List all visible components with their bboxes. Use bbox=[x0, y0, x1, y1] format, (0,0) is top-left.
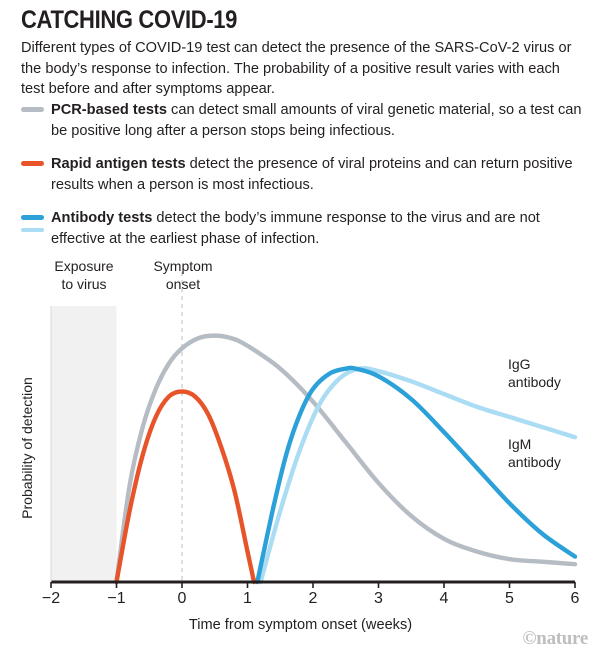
legend: PCR-based tests can detect small amounts… bbox=[21, 100, 587, 262]
legend-item-pcr: PCR-based tests can detect small amounts… bbox=[21, 100, 587, 141]
legend-text-antibody: Antibody tests detect the body’s immune … bbox=[51, 208, 587, 249]
legend-item-antibody: Antibody tests detect the body’s immune … bbox=[21, 208, 587, 249]
legend-label-pcr: PCR-based tests bbox=[51, 102, 167, 118]
legend-item-antigen: Rapid antigen tests detect the presence … bbox=[21, 154, 587, 195]
page-title: CATCHING COVID-19 bbox=[21, 7, 237, 33]
chart-svg bbox=[0, 250, 601, 600]
legend-swatch-antibody bbox=[21, 208, 51, 232]
legend-text-antigen: Rapid antigen tests detect the presence … bbox=[51, 154, 587, 195]
exposure-shaded-region bbox=[51, 306, 117, 582]
chart-area: Exposure to virus Symptom onset IgG anti… bbox=[0, 250, 601, 662]
legend-swatch-pcr bbox=[21, 100, 51, 112]
legend-label-antibody: Antibody tests bbox=[51, 210, 152, 226]
x-axis-label: Time from symptom onset (weeks) bbox=[0, 617, 601, 633]
infographic-page: CATCHING COVID-19 Different types of COV… bbox=[0, 0, 601, 662]
x-tick-label-3: 3 bbox=[359, 590, 399, 608]
curve-rapid-antigen-tests bbox=[117, 392, 255, 583]
x-tick-label-4: 4 bbox=[424, 590, 464, 608]
y-axis-label: Probability of detection bbox=[19, 353, 35, 543]
x-tick-label-5: 5 bbox=[490, 590, 530, 608]
x-tick-label-2: 2 bbox=[293, 590, 333, 608]
x-tick-label-neg1: −1 bbox=[97, 590, 137, 608]
label-igg-antibody: IgG antibody bbox=[508, 356, 561, 391]
legend-swatch-antigen bbox=[21, 154, 51, 166]
legend-text-pcr: PCR-based tests can detect small amounts… bbox=[51, 100, 587, 141]
x-tick-label-neg2: −2 bbox=[31, 590, 71, 608]
standfirst-text: Different types of COVID-19 test can det… bbox=[21, 38, 581, 100]
label-symptom-onset: Symptom onset bbox=[139, 258, 227, 293]
nature-credit: ©nature bbox=[522, 628, 588, 650]
label-igm-antibody: IgM antibody bbox=[508, 436, 561, 471]
x-tick-label-1: 1 bbox=[228, 590, 268, 608]
legend-label-antigen: Rapid antigen tests bbox=[51, 156, 186, 172]
label-exposure-to-virus: Exposure to virus bbox=[41, 258, 127, 293]
x-tick-label-6: 6 bbox=[555, 590, 595, 608]
curve-igm-antibody bbox=[257, 368, 575, 582]
x-tick-label-0: 0 bbox=[162, 590, 202, 608]
